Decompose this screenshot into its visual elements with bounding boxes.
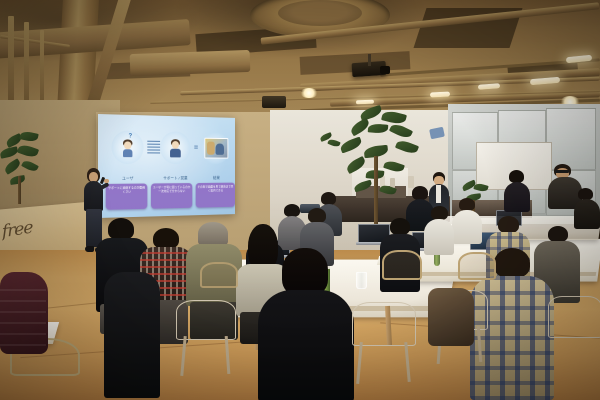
conduit-pipe-vertical <box>24 22 29 108</box>
attendee <box>424 206 454 254</box>
chair[interactable] <box>548 296 600 338</box>
conduit-pipe-vertical <box>8 16 14 106</box>
draped-coat <box>428 288 474 346</box>
attendee-foreground-left <box>104 262 160 400</box>
hanging-plant <box>318 134 340 160</box>
glass-pane <box>546 108 596 170</box>
slide-equals-icon: = <box>194 143 198 152</box>
screen-share-icon <box>204 138 228 159</box>
attendee <box>452 198 482 242</box>
chair[interactable] <box>176 300 236 340</box>
user-question-icon: ? <box>121 136 134 158</box>
ceiling-vent-inner <box>278 0 362 26</box>
presenter-hand <box>104 179 109 183</box>
slide-arrows-icon <box>147 141 160 156</box>
projector-mount <box>368 54 371 66</box>
projector-lens-icon <box>380 66 390 74</box>
coat-quilting <box>0 280 46 346</box>
ceiling-light <box>300 88 318 98</box>
slide-box-support: ユーザーが何に困っているのか一次対応で分からない <box>151 183 192 209</box>
glasses-icon <box>555 170 569 173</box>
ceiling-speaker <box>262 96 286 108</box>
air-duct-secondary <box>130 50 251 76</box>
chair[interactable] <box>352 302 416 346</box>
seminar-room-photo: free ? ユーザ サポートに連絡するのが面倒くさい サポート / 営業 ユー… <box>0 0 600 400</box>
ceiling-light <box>356 100 374 105</box>
slide-caption-result: 結果 <box>199 175 233 181</box>
slide-caption-support: サポート / 営業 <box>153 175 198 181</box>
slide-box-user: サポートに連絡するのが面倒くさい <box>106 184 148 210</box>
attendee <box>574 188 600 228</box>
chair[interactable] <box>458 252 496 280</box>
support-agent-icon <box>169 137 182 158</box>
ceiling-light <box>430 91 450 97</box>
attendee <box>504 170 530 210</box>
potted-tree-left <box>0 132 46 202</box>
conduit-pipe-vertical <box>40 30 44 110</box>
slide-caption-user: ユーザ <box>106 176 149 182</box>
beanie-hat <box>198 222 228 246</box>
slide-box-result: その場で画面を見て解決まで早く案内できる <box>196 183 235 208</box>
attendee-foreground <box>258 248 354 400</box>
presenter-shoe <box>85 246 94 252</box>
drinking-glass <box>356 272 367 289</box>
chair[interactable] <box>382 250 422 280</box>
chair[interactable] <box>200 262 238 288</box>
projection-screen: ? ユーザ サポートに連絡するのが面倒くさい サポート / 営業 ユーザーが何に… <box>98 114 235 218</box>
